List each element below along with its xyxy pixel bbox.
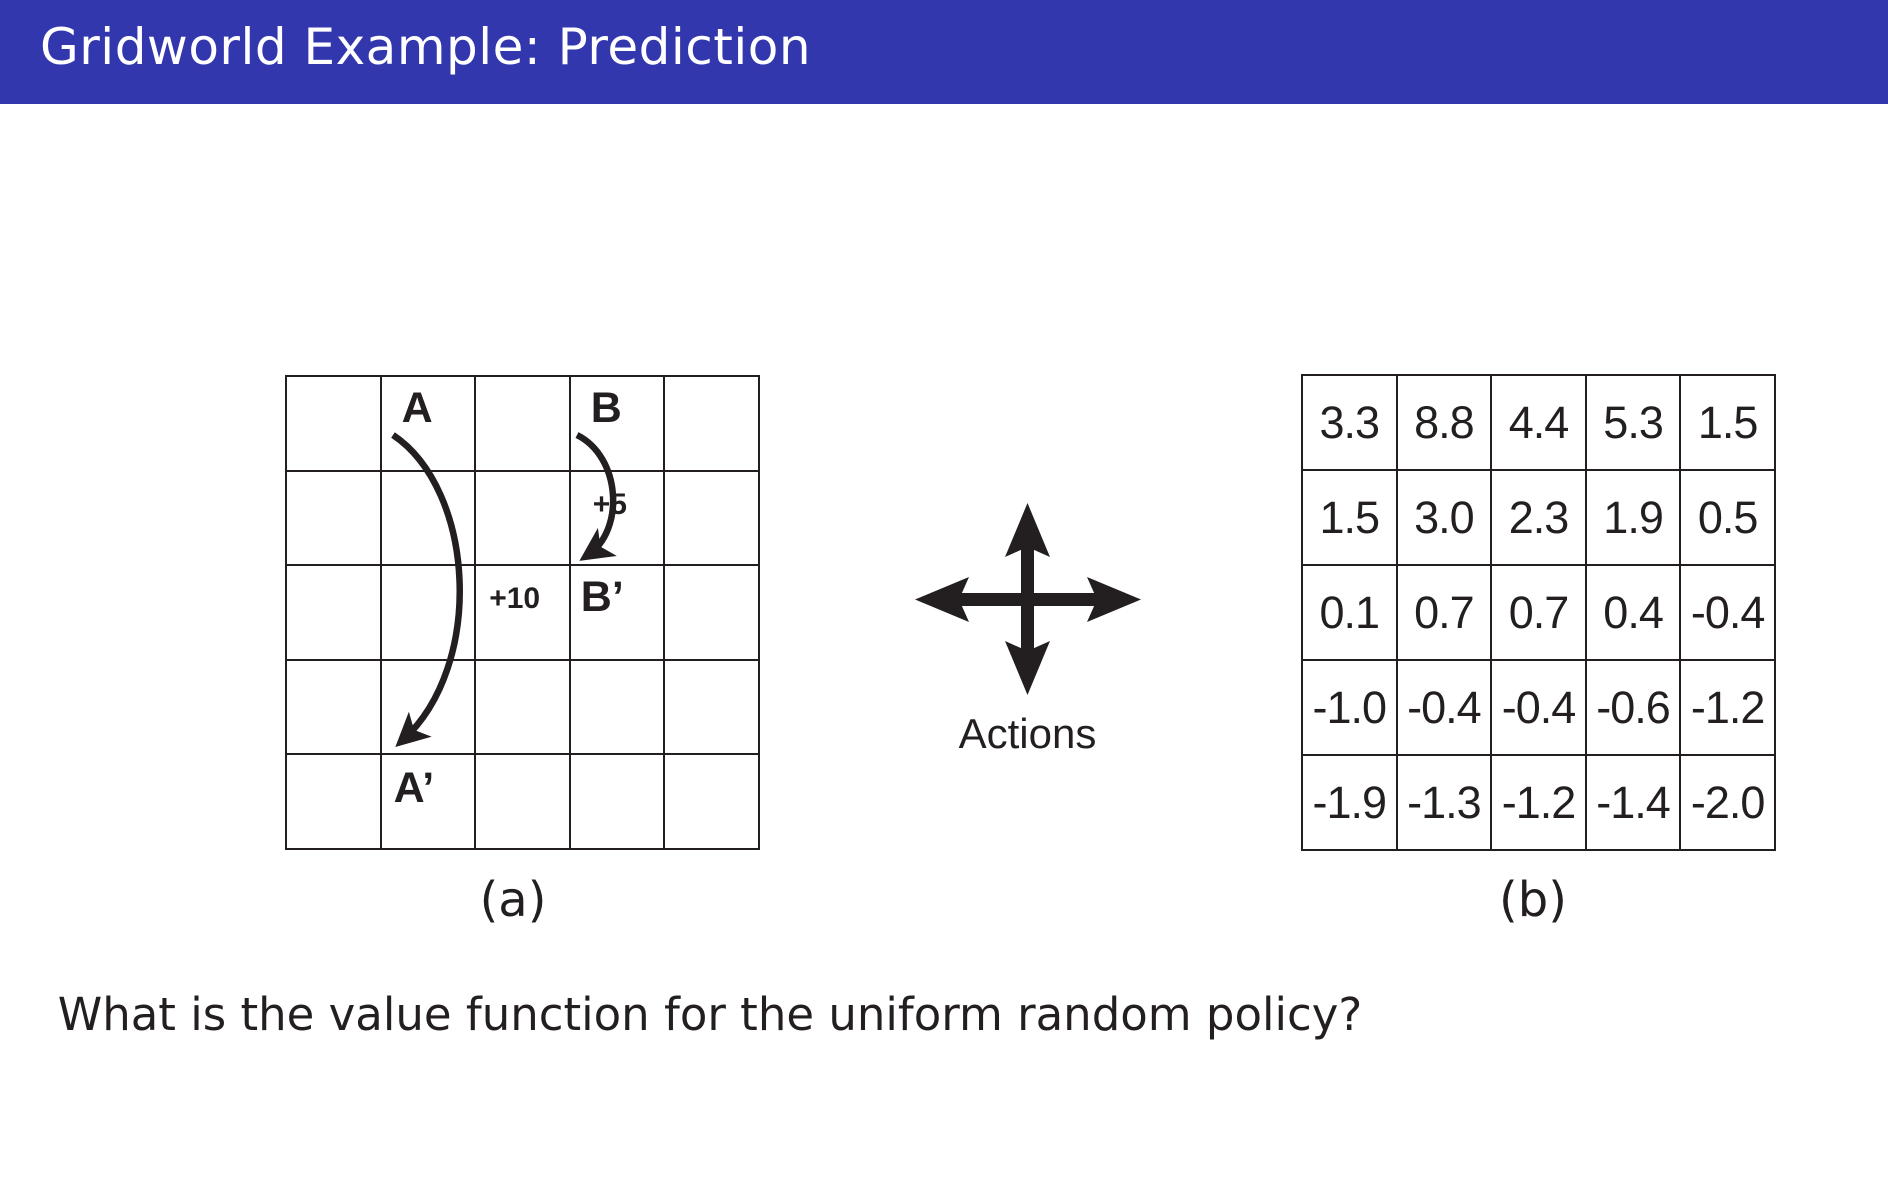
value-cell-r1c4[interactable]: 0.5: [1680, 470, 1775, 565]
grid-cell-r2c1[interactable]: [381, 565, 476, 660]
table-row: 0.1 0.7 0.7 0.4 -0.4: [1302, 565, 1775, 660]
table-row: 3.3 8.8 4.4 5.3 1.5: [1302, 375, 1775, 470]
grid-cell-r4c0[interactable]: [286, 754, 381, 849]
grid-cell-r2c2[interactable]: +10: [475, 565, 570, 660]
value-cell-r3c3[interactable]: -0.6: [1586, 660, 1681, 755]
value-cell-r0c2[interactable]: 4.4: [1491, 375, 1586, 470]
value-cell-r4c4[interactable]: -2.0: [1680, 755, 1775, 850]
figure-a-caption: (a): [413, 872, 613, 928]
grid-cell-r0c4[interactable]: [664, 376, 759, 471]
value-cell-r4c0[interactable]: -1.9: [1302, 755, 1397, 850]
table-row: -1.9 -1.3 -1.2 -1.4 -2.0: [1302, 755, 1775, 850]
value-cell-r0c0[interactable]: 3.3: [1302, 375, 1397, 470]
grid-cell-r3c3[interactable]: [570, 660, 665, 755]
actions-figure: Actions: [905, 495, 1150, 795]
table-row: -1.0 -0.4 -0.4 -0.6 -1.2: [1302, 660, 1775, 755]
grid-cell-r0c3[interactable]: B: [570, 376, 665, 471]
value-cell-r2c1[interactable]: 0.7: [1397, 565, 1492, 660]
grid-cell-r1c2[interactable]: [475, 471, 570, 566]
table-row: +10 B’: [286, 565, 759, 660]
table-row: A’: [286, 754, 759, 849]
value-cell-r4c1[interactable]: -1.3: [1397, 755, 1492, 850]
table-row: [286, 660, 759, 755]
grid-cell-r2c0[interactable]: [286, 565, 381, 660]
value-function-figure-b: 3.3 8.8 4.4 5.3 1.5 1.5 3.0 2.3 1.9 0.5 …: [1301, 374, 1764, 839]
actions-horizontal-shaft: [939, 593, 1117, 606]
grid-cell-r1c0[interactable]: [286, 471, 381, 566]
grid-cell-r1c4[interactable]: [664, 471, 759, 566]
actions-label: Actions: [905, 710, 1150, 758]
grid-cell-r1c1[interactable]: [381, 471, 476, 566]
grid-cell-r3c4[interactable]: [664, 660, 759, 755]
value-function-table: 3.3 8.8 4.4 5.3 1.5 1.5 3.0 2.3 1.9 0.5 …: [1301, 374, 1776, 851]
grid-cell-r0c1[interactable]: A: [381, 376, 476, 471]
value-cell-r0c1[interactable]: 8.8: [1397, 375, 1492, 470]
value-cell-r3c4[interactable]: -1.2: [1680, 660, 1775, 755]
value-cell-r4c3[interactable]: -1.4: [1586, 755, 1681, 850]
actions-cross-icon: [905, 495, 1150, 705]
table-row: A B: [286, 376, 759, 471]
value-cell-r2c2[interactable]: 0.7: [1491, 565, 1586, 660]
page-title: Gridworld Example: Prediction: [40, 18, 811, 76]
slide-title-bar: Gridworld Example: Prediction: [0, 0, 1888, 104]
grid-cell-r4c4[interactable]: [664, 754, 759, 849]
value-cell-r1c0[interactable]: 1.5: [1302, 470, 1397, 565]
value-cell-r3c1[interactable]: -0.4: [1397, 660, 1492, 755]
grid-cell-r2c3[interactable]: B’: [570, 565, 665, 660]
value-cell-r2c4[interactable]: -0.4: [1680, 565, 1775, 660]
value-cell-r1c2[interactable]: 2.3: [1491, 470, 1586, 565]
state-label-b: B: [591, 387, 622, 430]
grid-cell-r4c3[interactable]: [570, 754, 665, 849]
reward-label-plus10: +10: [489, 584, 540, 614]
value-cell-r3c2[interactable]: -0.4: [1491, 660, 1586, 755]
value-cell-r2c3[interactable]: 0.4: [1586, 565, 1681, 660]
reward-label-plus5: +5: [593, 490, 627, 520]
value-cell-r4c2[interactable]: -1.2: [1491, 755, 1586, 850]
state-label-b-prime: B’: [581, 576, 624, 619]
value-cell-r1c1[interactable]: 3.0: [1397, 470, 1492, 565]
value-cell-r1c3[interactable]: 1.9: [1586, 470, 1681, 565]
value-cell-r0c3[interactable]: 5.3: [1586, 375, 1681, 470]
state-label-a: A: [402, 387, 433, 430]
grid-cell-r3c2[interactable]: [475, 660, 570, 755]
grid-cell-r1c3[interactable]: +5: [570, 471, 665, 566]
value-cell-r0c4[interactable]: 1.5: [1680, 375, 1775, 470]
state-label-a-prime: A’: [394, 767, 435, 810]
table-row: +5: [286, 471, 759, 566]
value-cell-r3c0[interactable]: -1.0: [1302, 660, 1397, 755]
grid-cell-r3c1[interactable]: [381, 660, 476, 755]
question-text: What is the value function for the unifo…: [0, 988, 1420, 1041]
grid-cell-r4c1[interactable]: A’: [381, 754, 476, 849]
grid-cell-r0c2[interactable]: [475, 376, 570, 471]
grid-cell-r2c4[interactable]: [664, 565, 759, 660]
grid-cell-r3c0[interactable]: [286, 660, 381, 755]
table-row: 1.5 3.0 2.3 1.9 0.5: [1302, 470, 1775, 565]
figure-b-caption: (b): [1433, 872, 1633, 928]
gridworld-grid: A B +5 +10: [285, 375, 760, 850]
value-cell-r2c0[interactable]: 0.1: [1302, 565, 1397, 660]
gridworld-figure-a: A B +5 +10: [285, 375, 748, 838]
grid-cell-r0c0[interactable]: [286, 376, 381, 471]
grid-cell-r4c2[interactable]: [475, 754, 570, 849]
